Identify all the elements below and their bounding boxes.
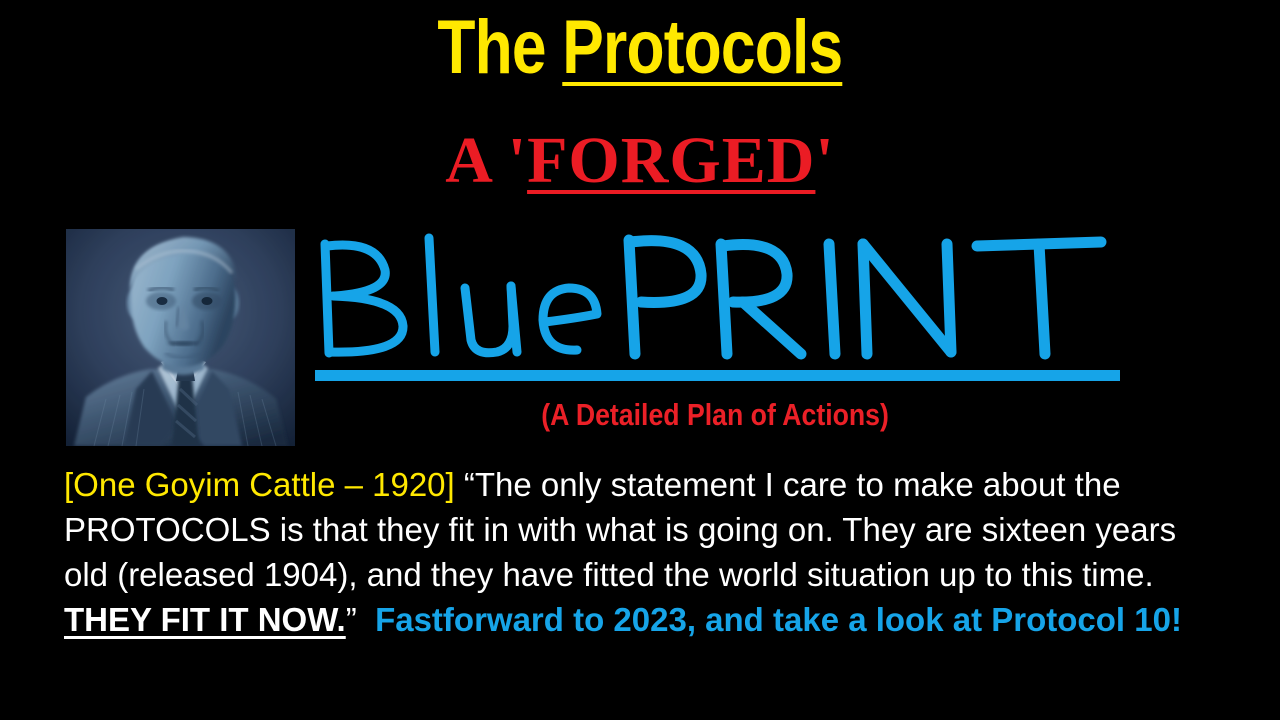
quote-text: PROTOCOLS is that they fit in with what …: [64, 511, 1176, 548]
quote-line: old (released 1904), and they have fitte…: [64, 552, 1229, 597]
quote-callout: Fastforward to 2023, and take a look at …: [375, 601, 1182, 638]
title-underlined-word: Protocols: [562, 5, 842, 90]
quote-attribution: [One Goyim Cattle – 1920]: [64, 466, 464, 503]
page-title: The Protocols: [0, 8, 1280, 88]
blueprint-word-text: [305, 222, 1125, 372]
blueprint-caption: (A Detailed Plan of Actions): [305, 398, 1125, 432]
portrait-photo: [66, 229, 295, 446]
blueprint-caption-text: (A Detailed Plan of Actions): [541, 398, 889, 432]
quote-emphasis: THEY FIT IT NOW.: [64, 601, 346, 638]
quote-block: [One Goyim Cattle – 1920] “The only stat…: [64, 462, 1229, 642]
quote-closing-mark: ”: [346, 601, 375, 638]
slide-canvas: The Protocols A 'FORGED': [0, 0, 1280, 720]
title-text: The Protocols: [438, 8, 843, 88]
blueprint-letters: [305, 222, 1125, 372]
quote-line: PROTOCOLS is that they fit in with what …: [64, 507, 1229, 552]
quote-line: [One Goyim Cattle – 1920] “The only stat…: [64, 462, 1229, 507]
blueprint-wordmark: [305, 222, 1125, 387]
title-prefix: The: [438, 5, 563, 90]
quote-line: THEY FIT IT NOW.” Fastforward to 2023, a…: [64, 597, 1229, 642]
quote-text: old (released 1904), and they have fitte…: [64, 556, 1154, 593]
subtitle-underlined-word: FORGED: [527, 124, 815, 197]
subtitle-prefix: A ': [445, 124, 527, 197]
subtitle-text: A 'FORGED': [445, 126, 835, 195]
subtitle-suffix: ': [815, 124, 834, 197]
blueprint-underline: [315, 370, 1120, 381]
quote-text: “The only statement I care to make about…: [464, 466, 1121, 503]
portrait-image: [66, 229, 295, 446]
subtitle: A 'FORGED': [0, 126, 1280, 195]
